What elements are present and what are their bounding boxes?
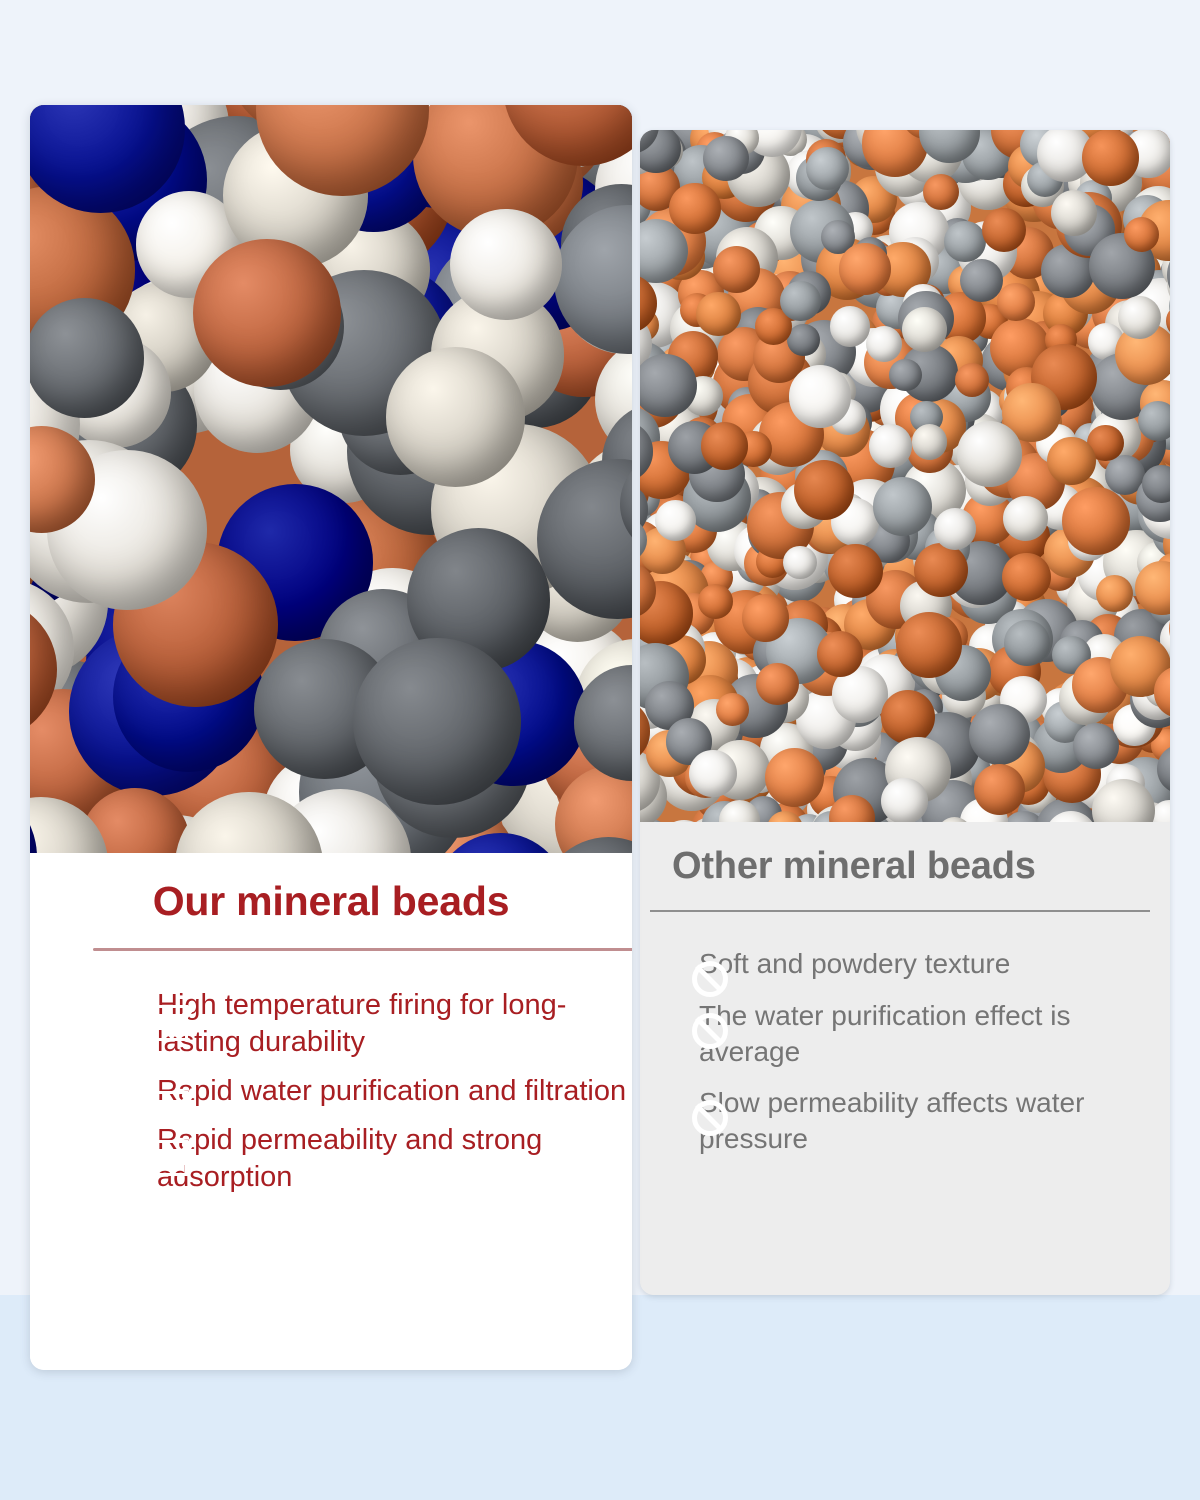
list-item-label: Rapid water purification and filtration bbox=[157, 1073, 626, 1110]
our-beads-title: Our mineral beads bbox=[30, 878, 632, 925]
bead-field-large bbox=[30, 105, 632, 853]
bead-field-small bbox=[640, 130, 1170, 822]
list-item-label: The water purification effect is average bbox=[699, 998, 1152, 1070]
other-beads-list: Soft and powdery texture The water purif… bbox=[682, 946, 1152, 1173]
list-item: The water purification effect is average bbox=[682, 998, 1152, 1070]
list-item-label: Slow permeability affects water pressure bbox=[699, 1085, 1152, 1157]
list-item: Rapid permeability and strong adsorption bbox=[140, 1122, 630, 1196]
list-item-label: Soft and powdery texture bbox=[699, 946, 1010, 982]
other-beads-panel: Other mineral beads Soft and powdery tex… bbox=[640, 822, 1170, 1295]
other-beads-title: Other mineral beads bbox=[672, 845, 1162, 888]
list-item-label: High temperature firing for long-lasting… bbox=[157, 987, 630, 1061]
our-beads-list: High temperature firing for long-lasting… bbox=[140, 987, 630, 1209]
our-beads-card: Our mineral beads High temperature firin… bbox=[30, 105, 632, 1370]
our-divider bbox=[93, 948, 632, 951]
other-divider bbox=[650, 910, 1150, 912]
list-item: Soft and powdery texture bbox=[682, 946, 1152, 982]
other-beads-photo bbox=[640, 130, 1170, 822]
list-item: Rapid water purification and filtration bbox=[140, 1073, 630, 1110]
list-item: Slow permeability affects water pressure bbox=[682, 1085, 1152, 1157]
list-item-label: Rapid permeability and strong adsorption bbox=[157, 1122, 630, 1196]
our-beads-panel: Our mineral beads High temperature firin… bbox=[30, 853, 632, 1370]
our-beads-photo bbox=[30, 105, 632, 853]
list-item: High temperature firing for long-lasting… bbox=[140, 987, 630, 1061]
other-beads-card: Other mineral beads Soft and powdery tex… bbox=[640, 130, 1170, 1295]
